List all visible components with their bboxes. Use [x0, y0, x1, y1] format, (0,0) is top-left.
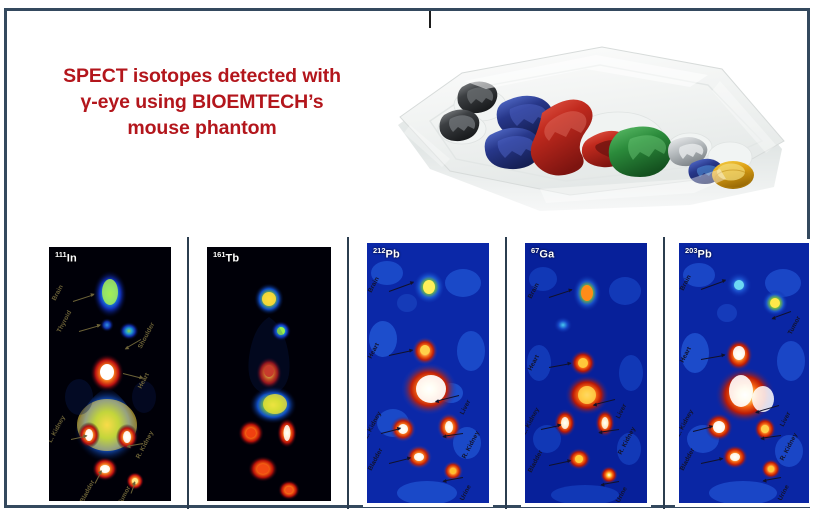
panel-in111-mass-number: 111 — [55, 250, 67, 259]
panel-pb212[interactable]: 212Pb Brain Heart Liver L. Kidney R. Kid… — [363, 239, 493, 507]
panel-in111-isotope-label: 111In — [55, 250, 77, 265]
panel-pb203-element-symbol: Pb — [698, 249, 712, 261]
panel-pb212-mass-number: 212 — [373, 246, 386, 255]
scintigraphy-panel-row: 111In Brain Thyroid Shoulder Heart L. Ki… — [27, 233, 807, 509]
panel-in111-element-symbol: In — [67, 253, 77, 265]
panel-pb212-element-symbol: Pb — [386, 249, 400, 261]
panel-in111[interactable]: 111In Brain Thyroid Shoulder Heart L. Ki… — [45, 243, 175, 505]
panel-ga67-isotope-label: 67Ga — [531, 246, 554, 261]
panel-ga67[interactable]: 67Ga Brain Heart Liver L. Kidney R. Kidn… — [521, 239, 651, 507]
page-title: SPECT isotopes detected with γ-eye using… — [21, 63, 383, 141]
panel-pb203-image: 203Pb Brain Tumor Heart Liver L. Kidney … — [679, 243, 809, 503]
mouse-phantom-photo — [390, 29, 810, 229]
title-line-2: γ-eye using BIOEMTECH’s — [21, 89, 383, 115]
crop-registration-mark — [429, 11, 431, 28]
panel-tb161-element-symbol: Tb — [226, 253, 240, 265]
panel-pb212-image: 212Pb Brain Heart Liver L. Kidney R. Kid… — [367, 243, 489, 503]
title-line-1: SPECT isotopes detected with — [21, 63, 383, 89]
panel-in111-image: 111In Brain Thyroid Shoulder Heart L. Ki… — [49, 247, 171, 501]
panel-divider-3 — [505, 237, 507, 509]
panel-tb161-mass-number: 161 — [213, 250, 226, 259]
panel-ga67-element-symbol: Ga — [539, 249, 554, 261]
panel-pb203-isotope-label: 203Pb — [685, 246, 712, 261]
panel-pb203[interactable]: 203Pb Brain Tumor Heart Liver L. Kidney … — [675, 239, 813, 507]
slide-frame: SPECT isotopes detected with γ-eye using… — [4, 8, 810, 508]
panel-divider-1 — [187, 237, 189, 509]
panel-tb161-isotope-label: 161Tb — [213, 250, 239, 265]
panel-tb161-image: 161Tb — [207, 247, 331, 501]
panel-pb203-mass-number: 203 — [685, 246, 698, 255]
panel-pb212-isotope-label: 212Pb — [373, 246, 400, 261]
title-line-3: mouse phantom — [21, 115, 383, 141]
panel-divider-2 — [347, 237, 349, 509]
panel-ga67-image: 67Ga Brain Heart Liver L. Kidney R. Kidn… — [525, 243, 647, 503]
panel-tb161[interactable]: 161Tb — [203, 243, 335, 505]
panel-divider-4 — [663, 237, 665, 509]
